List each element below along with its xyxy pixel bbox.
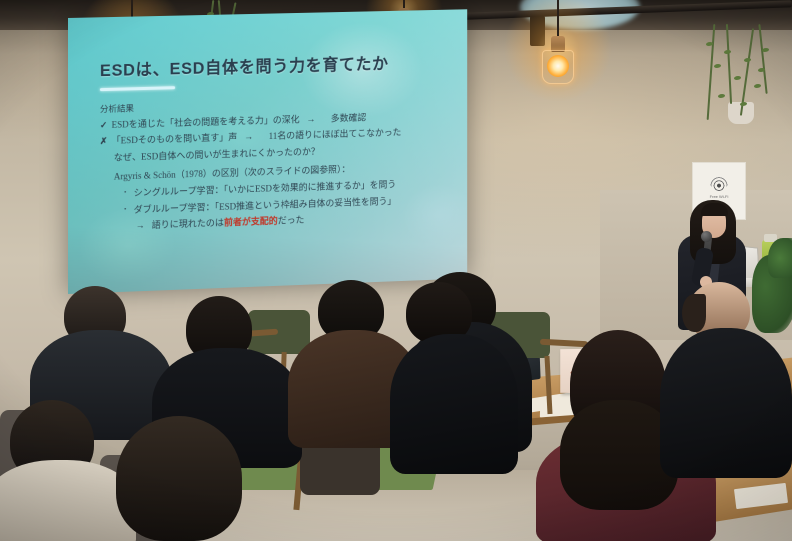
bullet-icon: ・ — [122, 188, 129, 196]
head — [116, 416, 242, 541]
title-underline-accent — [100, 86, 175, 90]
shoulders — [660, 328, 792, 478]
finding-result: 11名の語りにほぼ出てこなかった — [269, 128, 402, 142]
conclusion-prefix: 語りに現れたのは — [152, 218, 224, 230]
wifi-icon — [710, 173, 728, 191]
bullet-text: ダブルループ学習：「ESD推進という枠組み自体の妥当性を問う」 — [134, 196, 396, 215]
bullet-icon: ・ — [122, 205, 129, 213]
conclusion-suffix: だった — [278, 215, 305, 226]
finding-row-cross: ✗「ESDそのものを問い直す」声→11名の語りにほぼ出てこなかった — [100, 127, 450, 146]
finding-result: 多数確認 — [331, 112, 366, 123]
slide-question: なぜ、ESD自体への問いが生まれにくかったのか？ — [100, 143, 450, 163]
arrow-icon: → — [306, 114, 315, 124]
poster-text: Free Wi-Fi — [710, 194, 729, 199]
microphone-head — [701, 231, 712, 242]
finding-text: 「ESDそのものを問い直す」声 — [112, 132, 238, 146]
check-icon: ✓ — [100, 119, 108, 129]
hair-side — [682, 294, 706, 332]
bullet-text: シングルループ学習：「いかにESDを効果的に推進するか」を問う — [134, 179, 396, 197]
slide-section-heading: 分析結果 — [100, 95, 450, 113]
shoulders — [390, 334, 518, 474]
arrow-icon: → — [136, 221, 145, 231]
cross-icon: ✗ — [100, 136, 108, 146]
projection-screen: ESDは、ESD自体を問う力を育てたか 分析結果 ✓ESDを通じた「社会の問題を… — [68, 9, 467, 294]
presentation-photo: ESDは、ESD自体を問う力を育てたか 分析結果 ✓ESDを通じた「社会の問題を… — [0, 0, 792, 541]
potted-plant-small — [768, 238, 792, 278]
slide-conclusion: →語りに現れたのは前者が支配的だった — [100, 211, 450, 232]
slide-title: ESDは、ESD自体を問う力を育てたか — [100, 49, 450, 81]
finding-text: ESDを通じた「社会の問題を考える力」の深化 — [112, 114, 300, 129]
conclusion-highlight: 前者が支配的 — [224, 216, 278, 228]
slide-body: 分析結果 ✓ESDを通じた「社会の問題を考える力」の深化→多数確認 ✗「ESDそ… — [100, 95, 450, 232]
presenter-hair-fringe — [701, 203, 728, 216]
arrow-icon: → — [244, 132, 253, 142]
